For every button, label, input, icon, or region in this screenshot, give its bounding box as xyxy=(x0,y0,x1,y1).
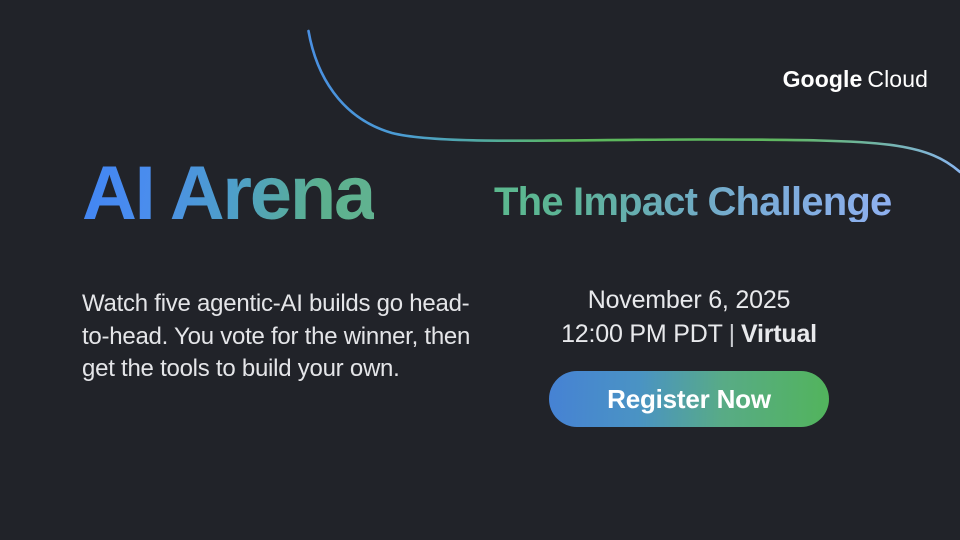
event-time-and-mode: 12:00 PM PDT|Virtual xyxy=(508,319,870,351)
brand-name-cloud: Cloud xyxy=(867,66,928,92)
headline-row: AI Arena The Impact Challenge xyxy=(82,160,912,250)
description-text: Watch five agentic-AI builds go head-to-… xyxy=(82,288,474,386)
event-date: November 6, 2025 xyxy=(508,285,870,317)
brand-name-google: Google xyxy=(783,66,863,92)
promo-banner: GoogleCloud AI Arena The Impact Challeng… xyxy=(0,0,960,540)
page-subtitle: The Impact Challenge xyxy=(494,182,891,222)
register-now-button[interactable]: Register Now xyxy=(549,371,829,427)
event-separator: | xyxy=(723,319,741,351)
page-title: AI Arena xyxy=(82,156,374,232)
event-details: November 6, 2025 12:00 PM PDT|Virtual Re… xyxy=(508,285,870,427)
event-time: 12:00 PM PDT xyxy=(561,320,723,348)
event-mode: Virtual xyxy=(741,320,817,348)
google-cloud-logo: GoogleCloud xyxy=(783,68,928,91)
